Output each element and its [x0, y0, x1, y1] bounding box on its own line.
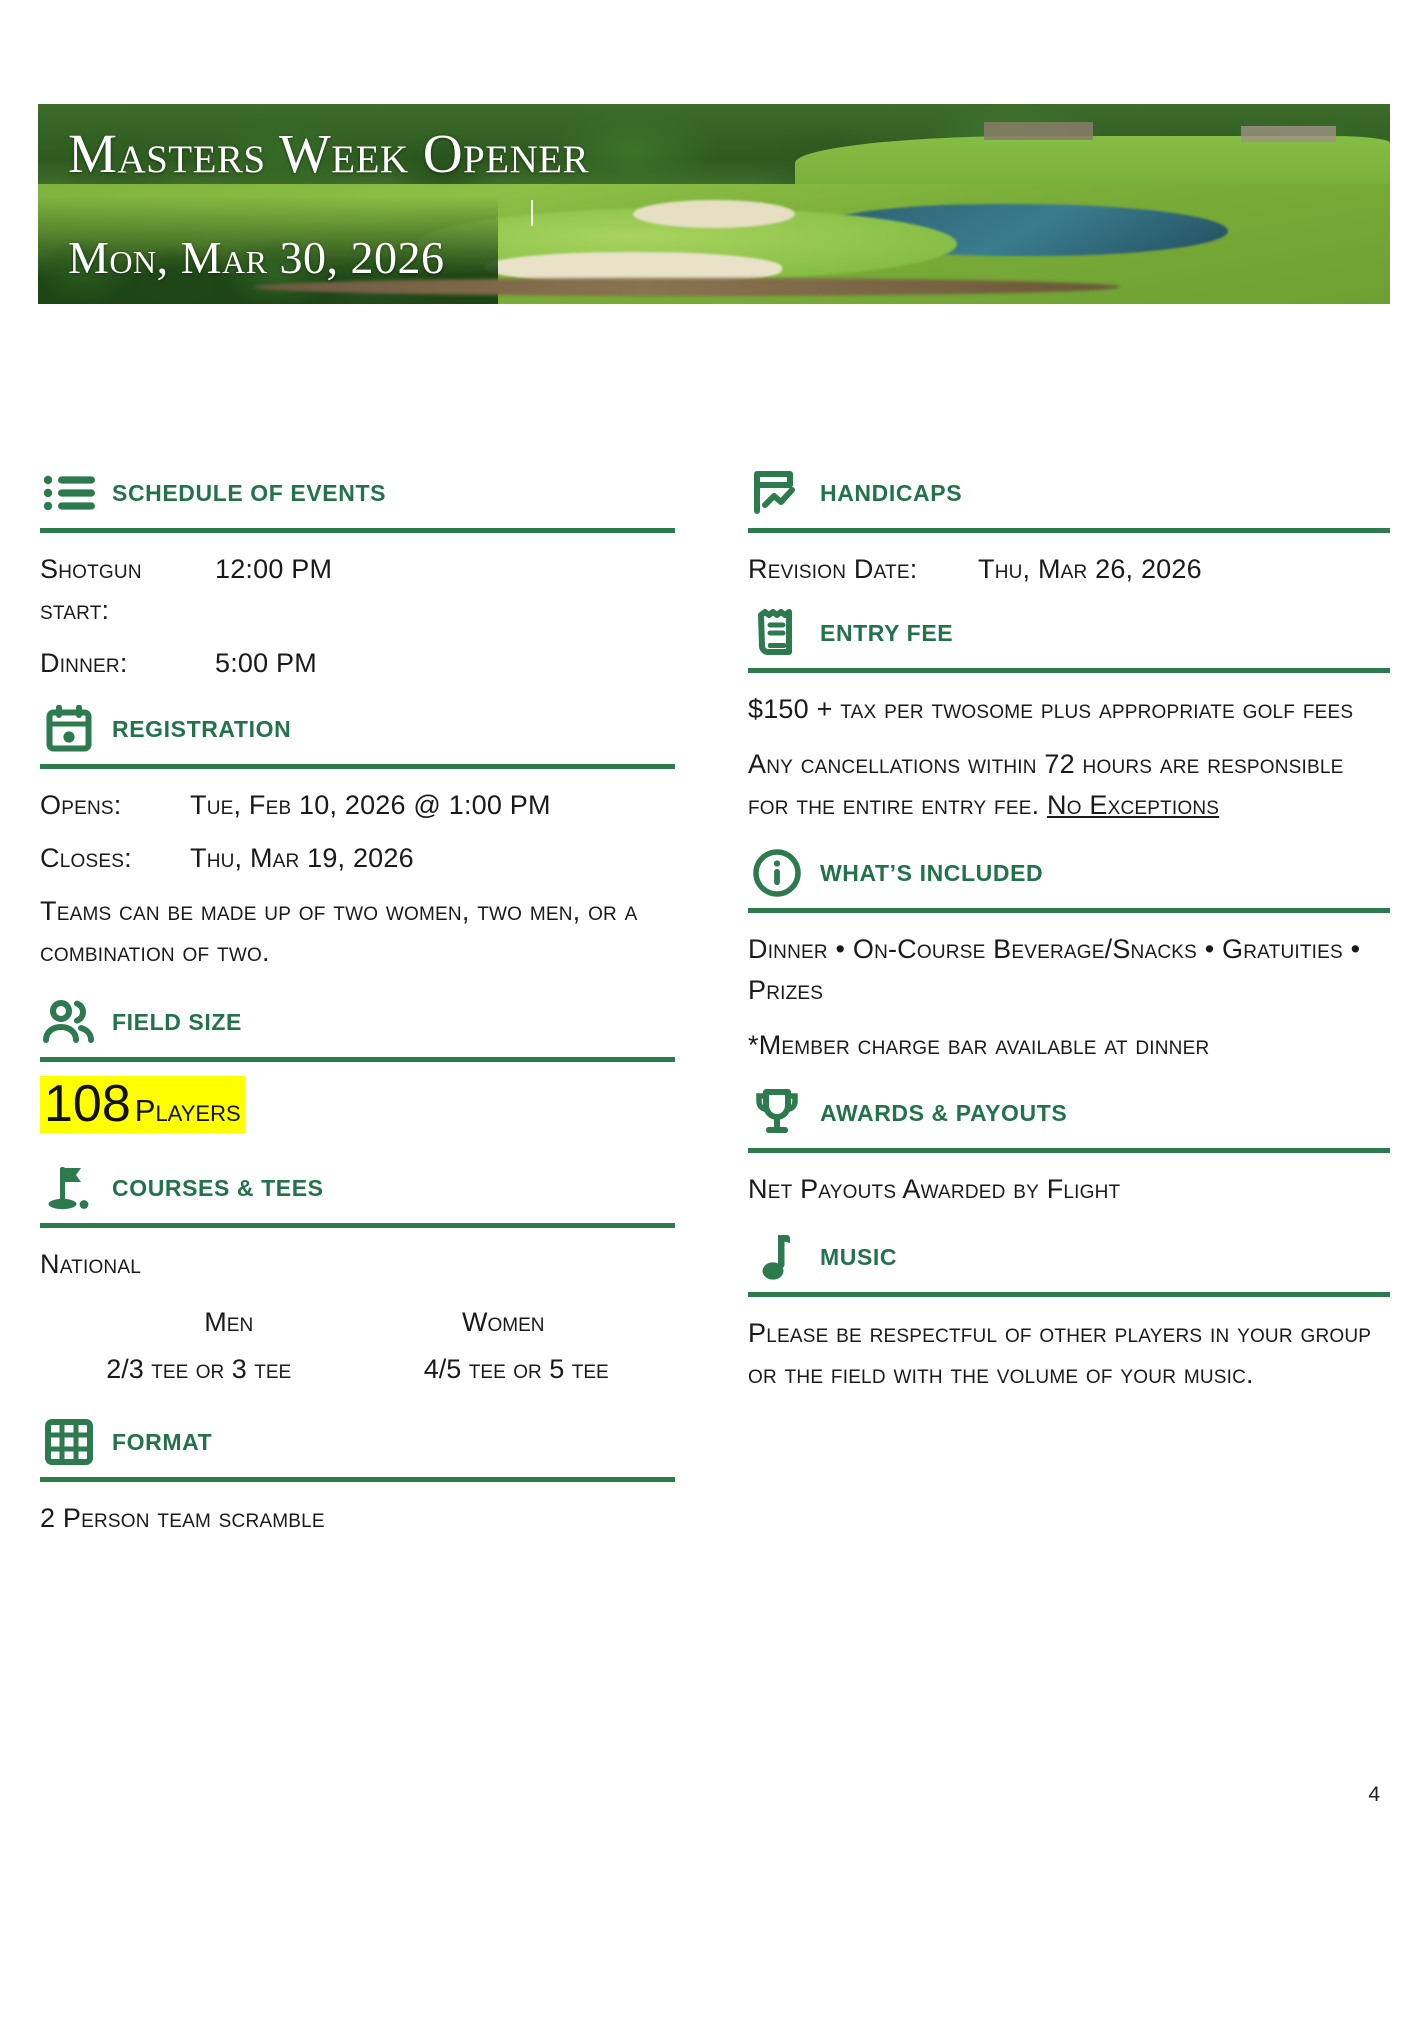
section-header: WHAT’S INCLUDED — [748, 842, 1390, 904]
section-title: FIELD SIZE — [112, 1009, 242, 1036]
entry-fee-amount: $150 + tax per twosome plus appropriate … — [748, 689, 1390, 730]
trophy-icon — [748, 1085, 806, 1141]
row-label: Revision Date: — [748, 549, 978, 590]
grid-icon — [40, 1414, 98, 1470]
event-title: Masters Week Opener — [68, 126, 589, 181]
section-title: MUSIC — [820, 1244, 897, 1271]
section-title: REGISTRATION — [112, 716, 291, 743]
row-value: 5:00 PM — [215, 643, 675, 684]
music-value: Please be respectful of other players in… — [748, 1313, 1390, 1395]
section-header: FORMAT — [40, 1411, 675, 1473]
music-note-icon — [748, 1229, 806, 1285]
right-column: HANDICAPS Revision Date: Thu, Mar 26, 20… — [748, 462, 1390, 1395]
tees-table: Men Women 2/3 tee or 3 tee 4/5 tee or 5 … — [40, 1307, 675, 1385]
cancellation-text: Any cancellations within 72 hours are re… — [748, 749, 1344, 820]
section-registration: REGISTRATION Opens: Tue, Feb 10, 2026 @ … — [40, 698, 675, 973]
row-label: Opens: — [40, 785, 190, 826]
section-divider — [748, 908, 1390, 913]
info-icon — [748, 845, 806, 901]
section-handicaps: HANDICAPS Revision Date: Thu, Mar 26, 20… — [748, 462, 1390, 590]
section-header: REGISTRATION — [40, 698, 675, 760]
section-divider — [40, 1477, 675, 1482]
entry-fee-cancellation: Any cancellations within 72 hours are re… — [748, 744, 1390, 826]
field-size-unit: Players — [135, 1093, 241, 1128]
section-header: MUSIC — [748, 1226, 1390, 1288]
section-courses-tees: COURSES & TEES National Men Women 2/3 te… — [40, 1157, 675, 1385]
people-icon — [40, 994, 98, 1050]
registration-note: Teams can be made up of two women, two m… — [40, 891, 675, 973]
section-title: ENTRY FEE — [820, 620, 953, 647]
section-title: FORMAT — [112, 1429, 212, 1456]
section-music: MUSIC Please be respectful of other play… — [748, 1226, 1390, 1395]
tee-column-heading-men: Men — [40, 1307, 358, 1354]
section-entry-fee: ENTRY FEE $150 + tax per twosome plus ap… — [748, 602, 1390, 826]
document-page: Masters Week Opener Mon, Mar 30, 2026 SC… — [0, 0, 1428, 2028]
format-value: 2 Person team scramble — [40, 1498, 675, 1539]
row-label: Dinner: — [40, 643, 215, 684]
section-schedule-of-events: SCHEDULE OF EVENTS Shotgun start: 12:00 … — [40, 462, 675, 684]
section-divider — [748, 1292, 1390, 1297]
row-value: 12:00 PM — [215, 549, 675, 590]
section-header: COURSES & TEES — [40, 1157, 675, 1219]
schedule-row: Shotgun start: 12:00 PM — [40, 549, 675, 631]
included-footnote: *Member charge bar available at dinner — [748, 1025, 1390, 1066]
schedule-row: Dinner: 5:00 PM — [40, 643, 675, 684]
section-header: AWARDS & PAYOUTS — [748, 1082, 1390, 1144]
row-value: Thu, Mar 19, 2026 — [190, 838, 675, 879]
handicaps-row: Revision Date: Thu, Mar 26, 2026 — [748, 549, 1390, 590]
row-label: Shotgun start: — [40, 549, 215, 631]
section-title: COURSES & TEES — [112, 1175, 324, 1202]
no-exceptions-emphasis: No Exceptions — [1047, 790, 1219, 820]
banner-title-wrap: Masters Week Opener — [68, 126, 589, 181]
course-name: National — [40, 1244, 675, 1285]
event-date: Mon, Mar 30, 2026 — [68, 235, 444, 281]
section-header: FIELD SIZE — [40, 991, 675, 1053]
section-whats-included: WHAT’S INCLUDED Dinner • On-Course Bever… — [748, 842, 1390, 1066]
tee-value-women: 4/5 tee or 5 tee — [358, 1354, 676, 1385]
section-divider — [748, 528, 1390, 533]
chart-icon — [748, 465, 806, 521]
header-banner: Masters Week Opener Mon, Mar 30, 2026 — [38, 104, 1390, 304]
row-value: Tue, Feb 10, 2026 @ 1:00 PM — [190, 785, 675, 826]
section-header: HANDICAPS — [748, 462, 1390, 524]
section-divider — [40, 1223, 675, 1228]
field-size-highlight: 108Players — [40, 1076, 245, 1133]
section-title: HANDICAPS — [820, 480, 962, 507]
receipt-icon — [748, 605, 806, 661]
section-awards-payouts: AWARDS & PAYOUTS Net Payouts Awarded by … — [748, 1082, 1390, 1210]
section-divider — [40, 528, 675, 533]
registration-row: Closes: Thu, Mar 19, 2026 — [40, 838, 675, 879]
section-title: SCHEDULE OF EVENTS — [112, 480, 386, 507]
section-header: ENTRY FEE — [748, 602, 1390, 664]
section-title: AWARDS & PAYOUTS — [820, 1100, 1067, 1127]
section-field-size: FIELD SIZE 108Players — [40, 991, 675, 1133]
field-size-count: 108 — [44, 1075, 131, 1133]
registration-row: Opens: Tue, Feb 10, 2026 @ 1:00 PM — [40, 785, 675, 826]
section-divider — [40, 1057, 675, 1062]
left-column: SCHEDULE OF EVENTS Shotgun start: 12:00 … — [40, 462, 675, 1539]
list-icon — [40, 465, 98, 521]
tee-column-heading-women: Women — [358, 1307, 676, 1354]
row-value: Thu, Mar 26, 2026 — [978, 549, 1390, 590]
awards-value: Net Payouts Awarded by Flight — [748, 1169, 1390, 1210]
section-format: FORMAT 2 Person team scramble — [40, 1411, 675, 1539]
golf-flag-icon — [40, 1160, 98, 1216]
section-title: WHAT’S INCLUDED — [820, 860, 1043, 887]
page-number: 4 — [1368, 1783, 1380, 1807]
section-divider — [40, 764, 675, 769]
section-divider — [748, 668, 1390, 673]
included-items: Dinner • On-Course Beverage/Snacks • Gra… — [748, 929, 1390, 1011]
calendar-icon — [40, 701, 98, 757]
section-header: SCHEDULE OF EVENTS — [40, 462, 675, 524]
section-divider — [748, 1148, 1390, 1153]
row-label: Closes: — [40, 838, 190, 879]
tee-value-men: 2/3 tee or 3 tee — [40, 1354, 358, 1385]
